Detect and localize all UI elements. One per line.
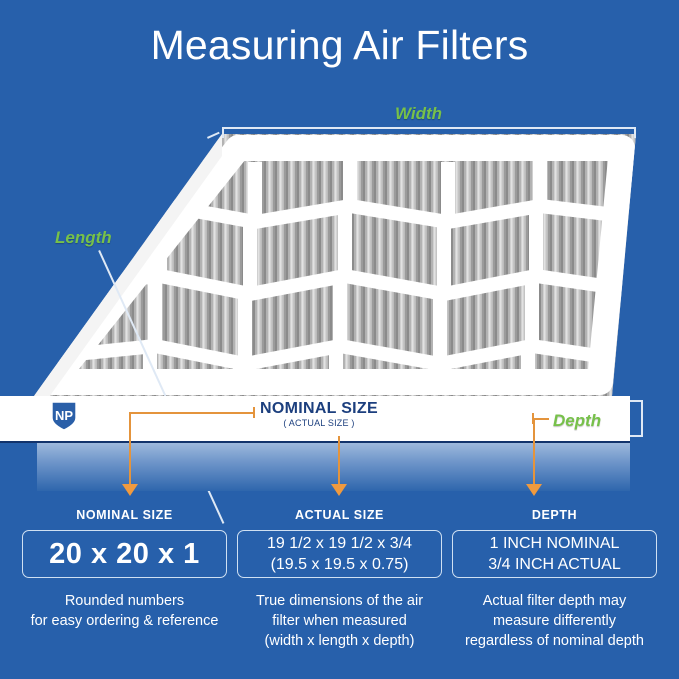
filter-media-group [34,134,636,396]
caption-depth-line-3: regardless of nominal depth [465,631,644,651]
column-heading-depth: DEPTH [532,508,577,522]
column-depth: DEPTH 1 INCH NOMINAL 3/4 INCH ACTUAL Act… [452,508,657,651]
value-box-depth: 1 INCH NOMINAL 3/4 INCH ACTUAL [452,530,657,578]
width-bracket-tick-right [634,127,636,138]
caption-nominal: Rounded numbers for easy ordering & refe… [31,591,219,631]
value-box-actual: 19 1/2 x 19 1/2 x 3/4 (19.5 x 19.5 x 0.7… [237,530,442,578]
connector-nominal-horizontal [129,412,254,414]
actual-size-value-decimal: (19.5 x 19.5 x 0.75) [271,554,409,575]
label-depth: Depth [553,411,601,431]
depth-value-nominal: 1 INCH NOMINAL [490,533,620,554]
connector-actual-arrowhead [331,484,347,496]
column-nominal-size: NOMINAL SIZE 20 x 20 x 1 Rounded numbers… [22,508,227,651]
nominal-size-value: 20 x 20 x 1 [49,538,200,571]
caption-actual-line-1: True dimensions of the air [256,591,423,611]
np-logo-text: NP [55,408,73,423]
connector-depth-horizontal [533,418,549,420]
column-heading-nominal: NOMINAL SIZE [76,508,173,522]
width-bracket-line [222,127,636,129]
caption-actual: True dimensions of the air filter when m… [256,591,423,651]
page-title: Measuring Air Filters [0,22,679,69]
nominal-size-callout: NOMINAL SIZE ( ACTUAL SIZE ) [260,400,378,429]
width-bracket-tick-left [222,127,224,138]
caption-depth-line-1: Actual filter depth may [465,591,644,611]
caption-depth-line-2: measure differently [465,611,644,631]
info-columns: NOMINAL SIZE 20 x 20 x 1 Rounded numbers… [0,508,679,651]
caption-nominal-line-1: Rounded numbers [31,591,219,611]
nominal-size-callout-title: NOMINAL SIZE [260,400,378,418]
actual-size-value-fraction: 19 1/2 x 19 1/2 x 3/4 [267,533,412,554]
infographic-page: Measuring Air Filters [0,0,679,679]
connector-nominal-tick [253,407,255,418]
connector-depth-vertical [533,418,535,485]
value-box-nominal: 20 x 20 x 1 [22,530,227,578]
column-actual-size: ACTUAL SIZE 19 1/2 x 19 1/2 x 3/4 (19.5 … [237,508,442,651]
connector-depth-arrowhead [526,484,542,496]
connector-nominal-vertical [129,412,131,485]
caption-actual-line-2: filter when measured [256,611,423,631]
connector-actual-vertical [338,436,340,485]
connector-nominal-arrowhead [122,484,138,496]
label-width: Width [395,104,442,124]
depth-bracket-line [641,400,643,437]
depth-bracket-tick-top [628,400,642,402]
caption-actual-line-3: (width x length x depth) [256,631,423,651]
label-length: Length [55,228,112,248]
caption-depth: Actual filter depth may measure differen… [465,591,644,651]
column-heading-actual: ACTUAL SIZE [295,508,384,522]
depth-value-actual: 3/4 INCH ACTUAL [488,554,620,575]
np-shield-logo: NP [51,401,77,431]
depth-bracket-tick-bottom [628,435,642,437]
air-filter-illustration [0,118,679,443]
nominal-size-callout-subtitle: ( ACTUAL SIZE ) [260,418,378,429]
caption-nominal-line-2: for easy ordering & reference [31,611,219,631]
